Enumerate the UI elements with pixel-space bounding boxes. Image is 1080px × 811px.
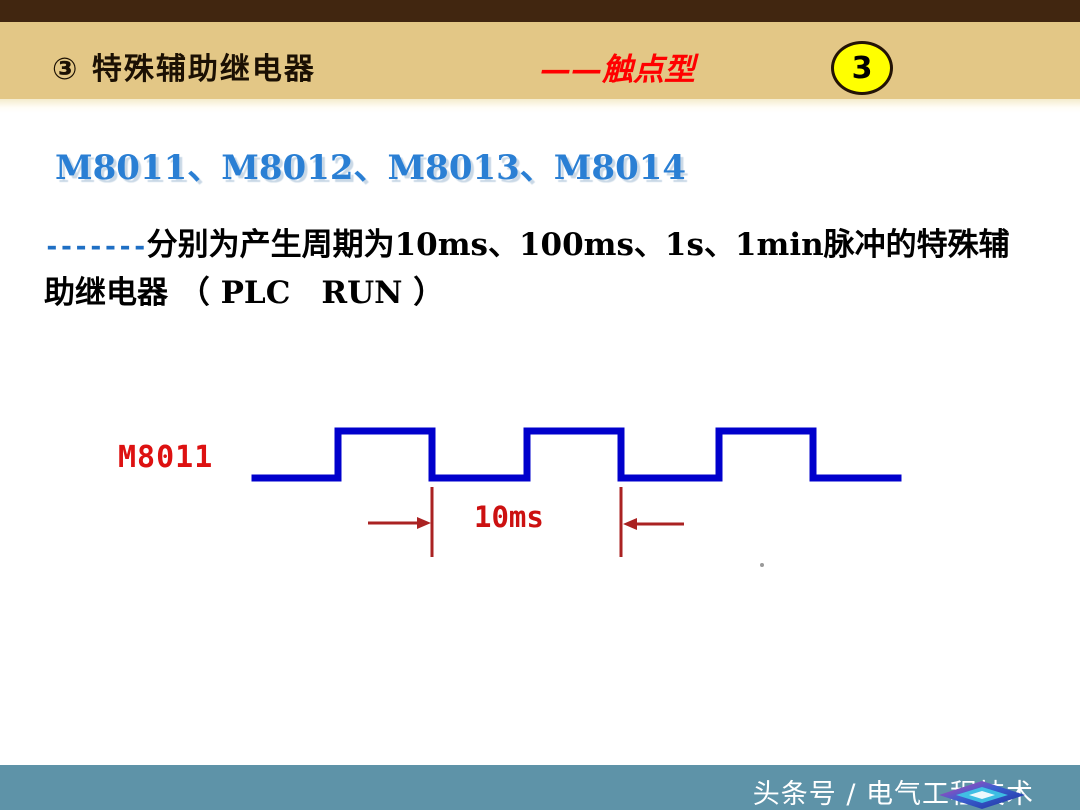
dimension-arrow-right-head	[623, 518, 637, 530]
dash-prefix: -------	[44, 232, 147, 262]
description-paragraph: -------分别为产生周期为10ms、100ms、1s、1min脉冲的特殊辅助…	[44, 222, 1024, 316]
page-number-badge-label: 3	[834, 44, 890, 92]
waveform-trace	[255, 431, 898, 478]
page-number-badge: 3	[831, 41, 893, 95]
description-text: 分别为产生周期为10ms、100ms、1s、1min脉冲的特殊辅助继电器 （ P…	[44, 227, 1010, 311]
publisher-logo-icon	[938, 780, 1026, 810]
stray-dot	[760, 563, 764, 567]
page-title: ③ 特殊辅助继电器	[52, 44, 316, 88]
pulse-waveform-diagram	[0, 395, 1000, 585]
relay-list-heading: M8011、M8012、M8013、M8014	[55, 140, 686, 189]
page-subtitle: ——触点型	[540, 44, 695, 89]
top-accent-strip	[0, 0, 1080, 22]
dimension-arrow-left-head	[417, 517, 431, 529]
banner-gradient-fade	[0, 99, 1080, 113]
